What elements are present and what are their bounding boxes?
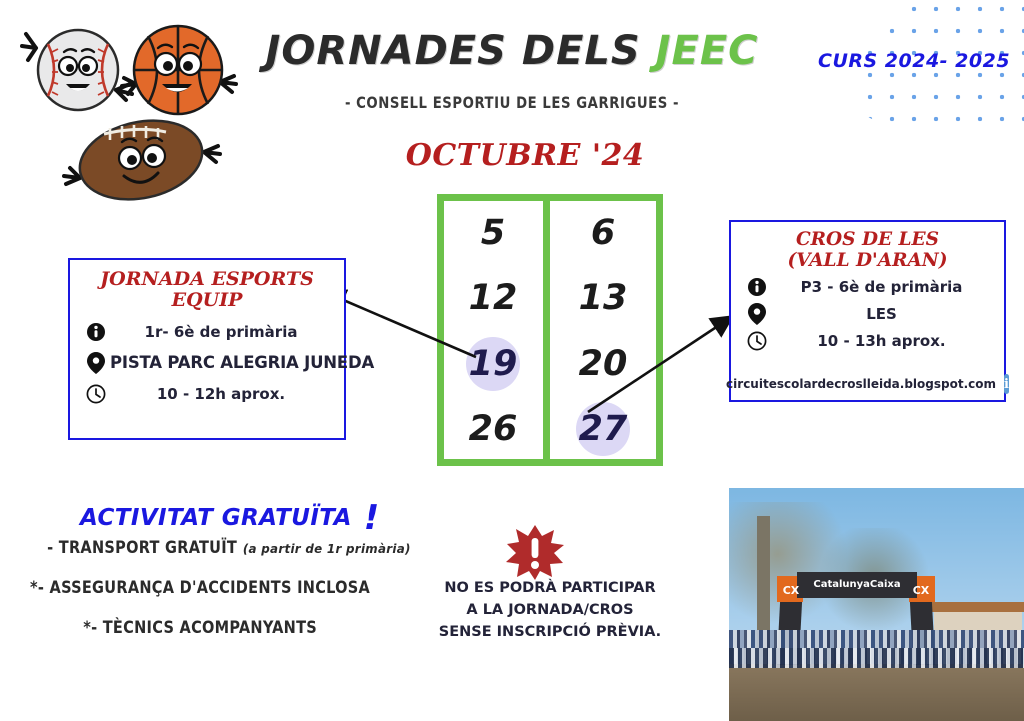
warning-text: NO ES PODRÀ PARTICIPAR A LA JORNADA/CROS… [420, 578, 680, 643]
right-box-time-text: 10 - 13h aprox. [771, 332, 992, 350]
right-box-title-line1: CROS DE LES [731, 230, 1004, 251]
left-box-place-row: PISTA PARC ALEGRIA JUNEDA [70, 352, 344, 374]
calendar-day[interactable]: 13 [576, 271, 630, 325]
blog-url-text[interactable]: circuitescolardecroslleida.blogspot.com [726, 377, 996, 391]
left-box-info-row: 1r- 6è de primària [70, 322, 344, 342]
map-pin-icon [82, 352, 110, 374]
warning-line-1: NO ES PODRÀ PARTICIPAR [420, 578, 680, 600]
warning-line-2: A LA JORNADA/CROS [420, 600, 680, 622]
american-football-icon [64, 110, 220, 208]
photo-arch-sponsor-label: CatalunyaCaixa [797, 574, 917, 596]
left-box-place-text: PISTA PARC ALEGRIA JUNEDA [110, 353, 374, 372]
page-subtitle: - CONSELL ESPORTIU DE LES GARRIGUES - [282, 93, 742, 112]
course-year-label: CURS 2024- 2025 [818, 50, 1008, 72]
warning-starburst-icon [505, 524, 565, 580]
page-title-accent: JEEC [656, 28, 759, 74]
calendar-day-highlighted[interactable]: 27 [576, 402, 630, 456]
poster-canvas: CURS 2024- 2025 [0, 0, 1024, 721]
calendar-day[interactable]: 20 [576, 337, 630, 391]
clock-icon [743, 331, 771, 351]
list-item-note: (a partir de 1r primària) [243, 541, 411, 556]
photo-arch-logo-right: CX [909, 582, 933, 600]
free-activity-heading-text: ACTIVITAT GRATUÏTA [80, 505, 352, 531]
right-box-place-text: LES [771, 305, 992, 323]
clock-icon [82, 384, 110, 404]
left-box-title: JORNADA ESPORTS EQUIP [70, 269, 344, 312]
free-activity-exclamation: ! [364, 498, 380, 538]
info-badge-icon[interactable]: i [1004, 374, 1009, 394]
calendar-column-left: 5 12 19 26 [443, 200, 543, 462]
right-box-place-row: LES [731, 303, 1004, 325]
calendar-day[interactable]: 6 [576, 206, 630, 260]
free-activity-heading: ACTIVITAT GRATUÏTA! [80, 498, 380, 538]
list-item-text: *- ASSEGURANÇA D'ACCIDENTS INCLOSA [30, 578, 370, 598]
month-heading: OCTUBRE '24 [400, 138, 650, 173]
free-activity-list: - TRANSPORT GRATUÏT(a partir de 1r primà… [30, 538, 430, 658]
blog-url-bar[interactable]: circuitescolardecroslleida.blogspot.com … [731, 374, 1004, 394]
right-box-info-row: P3 - 6è de primària [731, 277, 1004, 297]
photo-arch-logo-left: CX [779, 582, 803, 600]
calendar-day[interactable]: 26 [466, 402, 520, 456]
left-box-time-row: 10 - 12h aprox. [70, 384, 344, 404]
calendar-day[interactable]: 5 [466, 206, 520, 260]
right-box-title-line2: (VALL D'ARAN) [731, 251, 1004, 272]
baseball-icon [22, 30, 132, 110]
map-pin-icon [743, 303, 771, 325]
calendar-divider [543, 200, 550, 460]
cros-de-les-box: CROS DE LES (VALL D'ARAN) P3 - 6è de pri… [729, 220, 1006, 402]
basketball-icon [122, 26, 236, 114]
page-title-main: JORNADES DELS [265, 28, 655, 74]
page-title: JORNADES DELS JEEC [262, 28, 762, 74]
sports-balls-illustration [8, 8, 248, 208]
photo-house-roof [931, 602, 1024, 612]
right-box-title: CROS DE LES (VALL D'ARAN) [731, 230, 1004, 271]
list-item-text: *- TÈCNICS ACOMPANYANTS [83, 618, 317, 638]
left-box-title-line1: JORNADA ESPORTS [70, 269, 344, 290]
calendar-day[interactable]: 12 [466, 271, 520, 325]
jornada-esports-equip-box: JORNADA ESPORTS EQUIP 1r- 6è de primària… [68, 258, 346, 440]
list-item: - TRANSPORT GRATUÏT(a partir de 1r primà… [30, 538, 410, 558]
calendar-day-highlighted[interactable]: 19 [466, 337, 520, 391]
right-box-info-text: P3 - 6è de primària [771, 278, 992, 296]
list-item: *- TÈCNICS ACOMPANYANTS [30, 618, 410, 638]
cross-country-race-photo: CatalunyaCaixa CX CX [729, 488, 1024, 721]
right-box-time-row: 10 - 13h aprox. [731, 331, 1004, 351]
calendar-column-right: 6 13 20 27 [553, 200, 653, 462]
photo-crowd-row-2 [729, 648, 1024, 668]
left-box-title-line2: EQUIP [70, 290, 344, 311]
warning-line-3: SENSE INSCRIPCIÓ PRÈVIA. [420, 622, 680, 644]
left-box-time-text: 10 - 12h aprox. [110, 385, 332, 403]
left-box-info-text: 1r- 6è de primària [110, 323, 332, 341]
info-icon [82, 322, 110, 342]
info-icon [743, 277, 771, 297]
list-item-text: - TRANSPORT GRATUÏT [47, 538, 237, 558]
list-item: *- ASSEGURANÇA D'ACCIDENTS INCLOSA [30, 578, 410, 598]
